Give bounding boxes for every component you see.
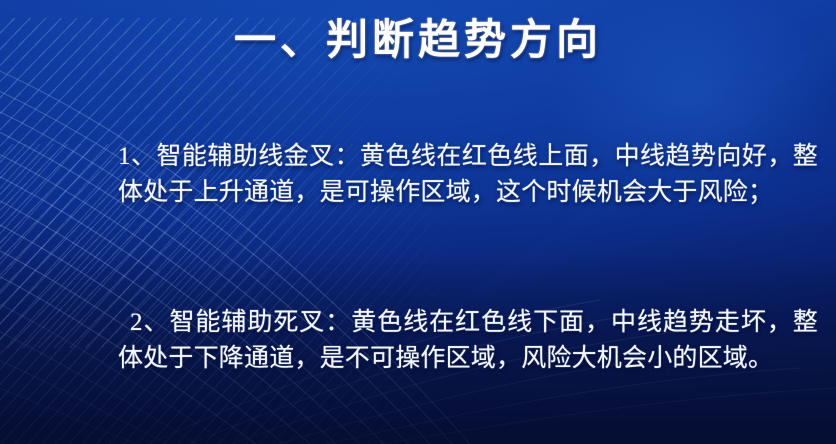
body-paragraph-2: 2、智能辅助死叉：黄色线在红色线下面，中线趋势走坏，整体处于下降通道，是不可操作… xyxy=(118,305,818,377)
presentation-slide: 一、判断趋势方向 1、智能辅助线金叉：黄色线在红色线上面，中线趋势向好，整体处于… xyxy=(0,0,836,444)
slide-title: 一、判断趋势方向 xyxy=(0,14,836,68)
body-paragraph-1: 1、智能辅助线金叉：黄色线在红色线上面，中线趋势向好，整体处于上升通道，是可操作… xyxy=(118,139,818,211)
slide-content: 一、判断趋势方向 1、智能辅助线金叉：黄色线在红色线上面，中线趋势向好，整体处于… xyxy=(0,0,836,444)
